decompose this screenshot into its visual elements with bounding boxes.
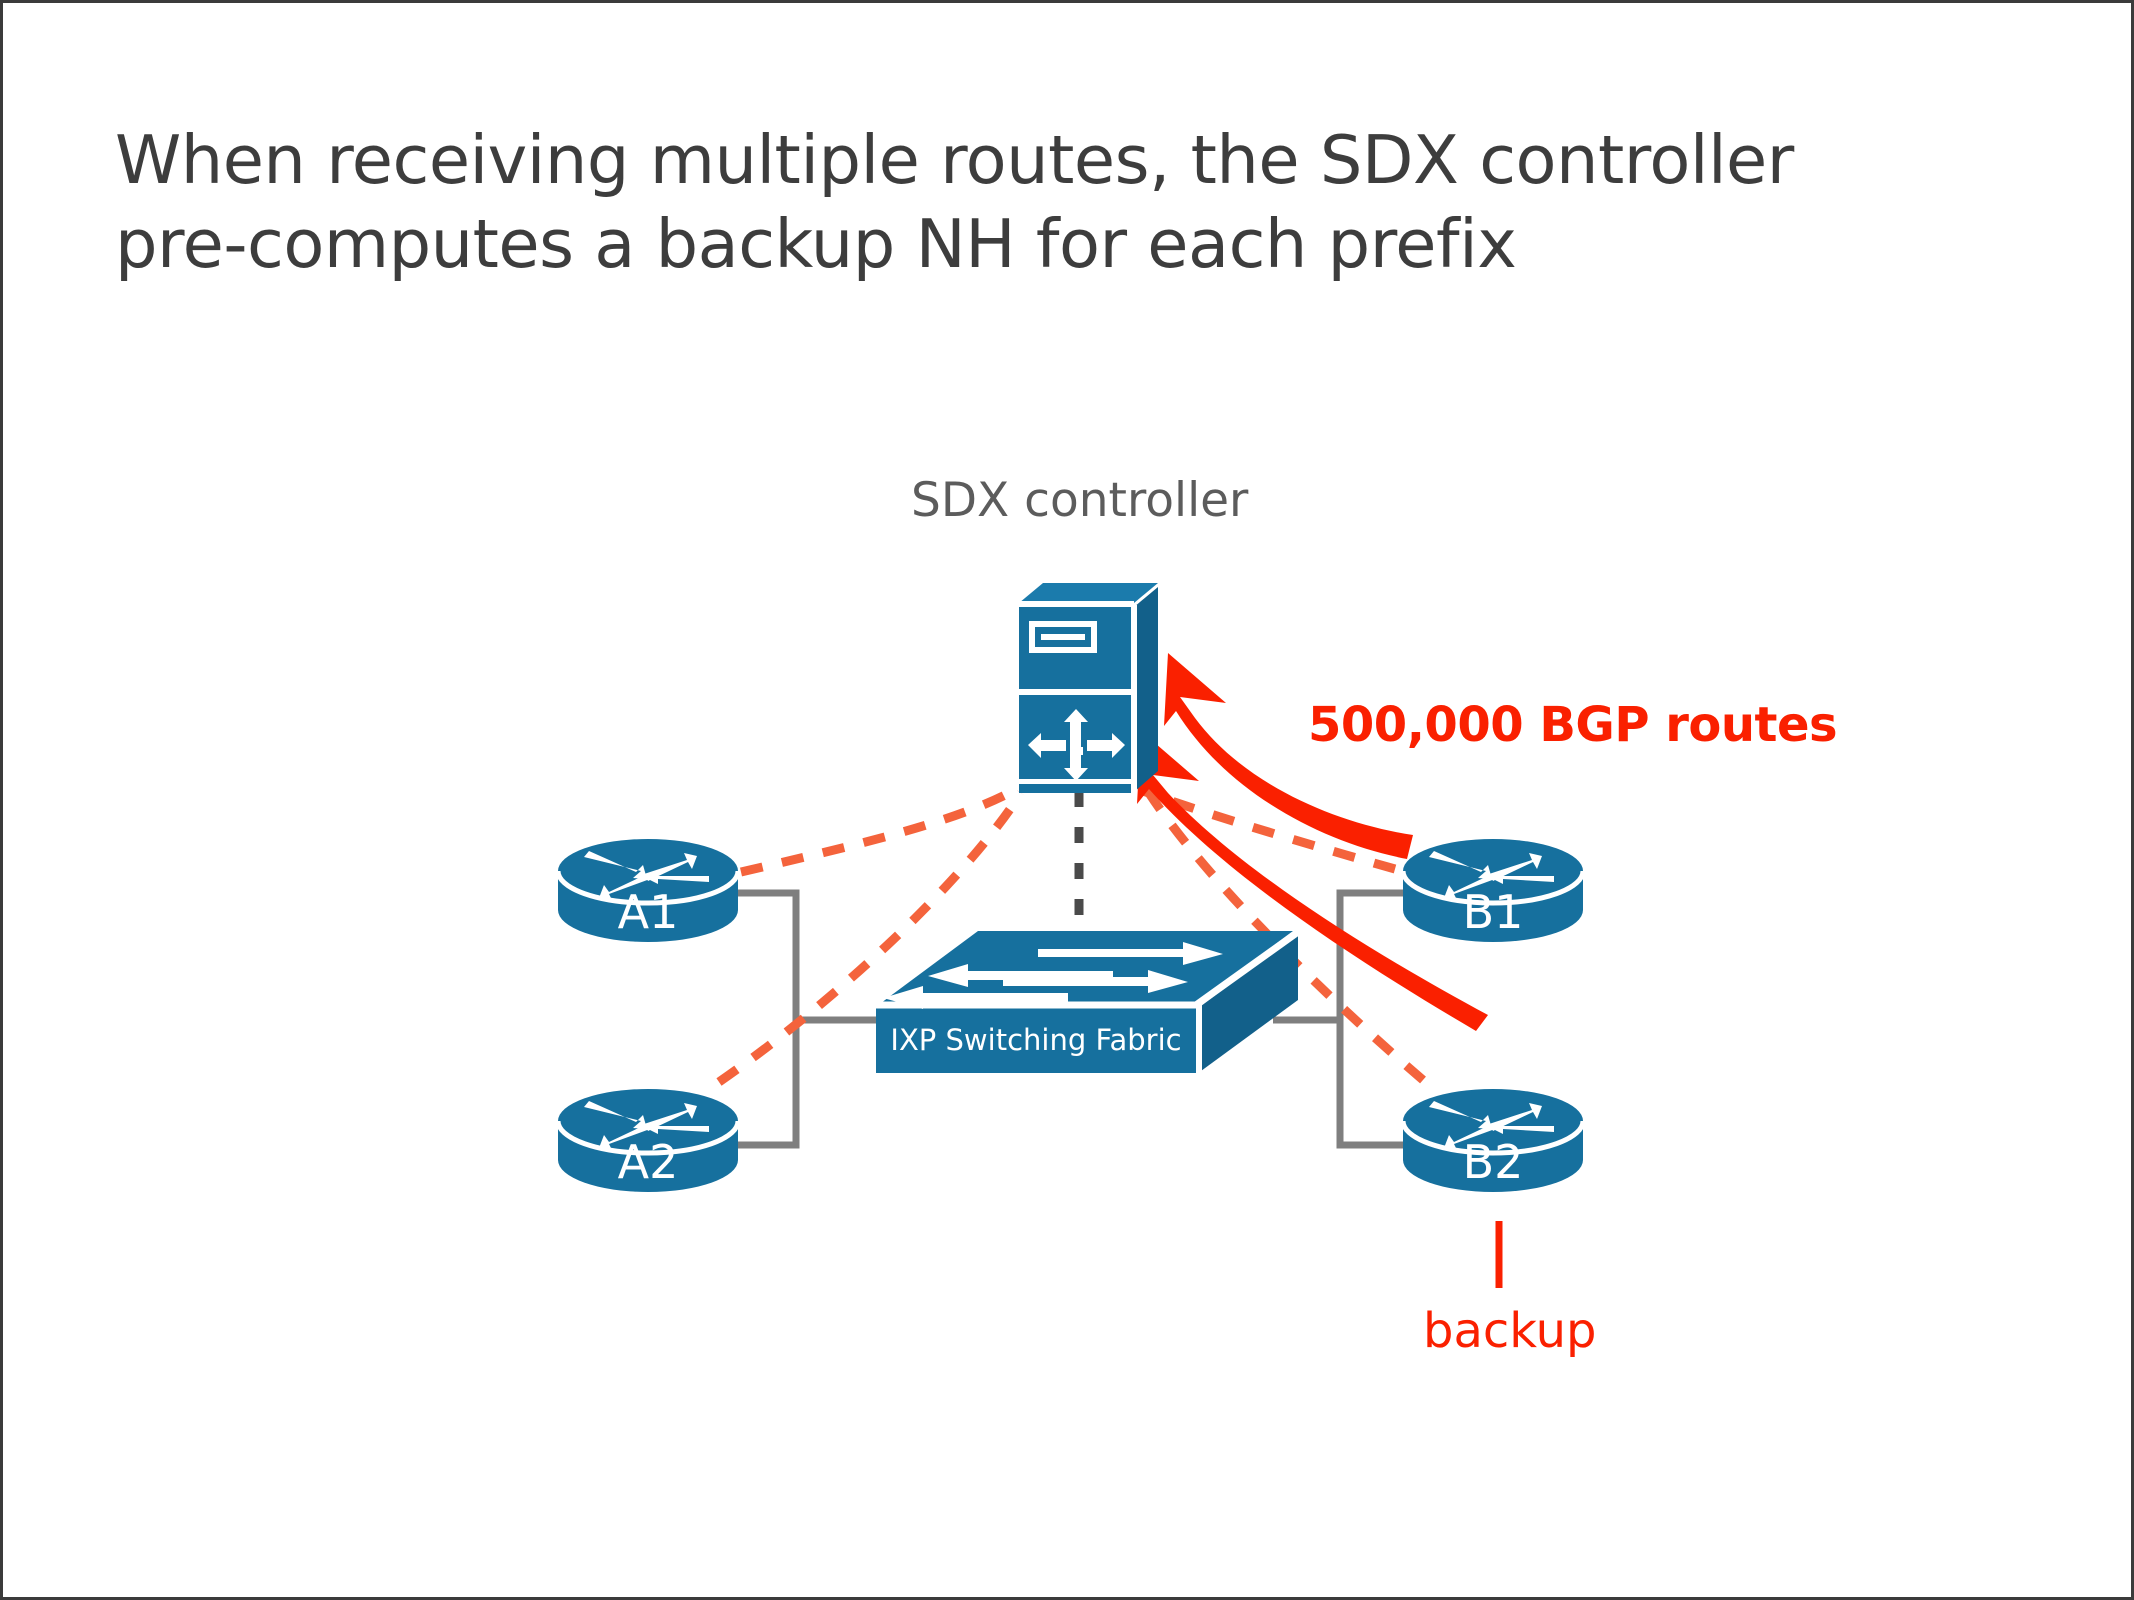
router-b1-label: B1 <box>1463 885 1524 939</box>
server-top-face <box>1019 583 1158 603</box>
router-b2-label: B2 <box>1463 1135 1524 1189</box>
server-drive-slot-bar <box>1041 634 1085 640</box>
router-icon-a2: A2 <box>558 1089 738 1192</box>
backup-annotation: backup <box>1423 1303 1596 1359</box>
server-icon <box>1019 583 1158 793</box>
router-icon-a1: A1 <box>558 839 738 942</box>
bgp-routes-annotation: 500,000 BGP routes <box>1308 697 1837 753</box>
router-a1-label: A1 <box>618 885 679 939</box>
switch-label: IXP Switching Fabric <box>890 1023 1181 1057</box>
router-a2-label: A2 <box>618 1135 679 1189</box>
server-side-face <box>1134 587 1158 792</box>
data-link-b2 <box>1340 1020 1403 1145</box>
data-link-a2 <box>733 1020 796 1145</box>
router-icon-b2: B2 <box>1403 1089 1583 1192</box>
data-link-a1 <box>733 893 796 1020</box>
slide-canvas: When receiving multiple routes, the SDX … <box>0 0 2134 1600</box>
server-base-strip <box>1019 784 1133 793</box>
router-icon-b1: B1 <box>1403 839 1583 942</box>
network-diagram: IXP Switching Fabric <box>3 3 2134 1600</box>
sdx-controller-label: SDX controller <box>911 473 1248 528</box>
switch-icon: IXP Switching Fabric <box>876 931 1298 1073</box>
